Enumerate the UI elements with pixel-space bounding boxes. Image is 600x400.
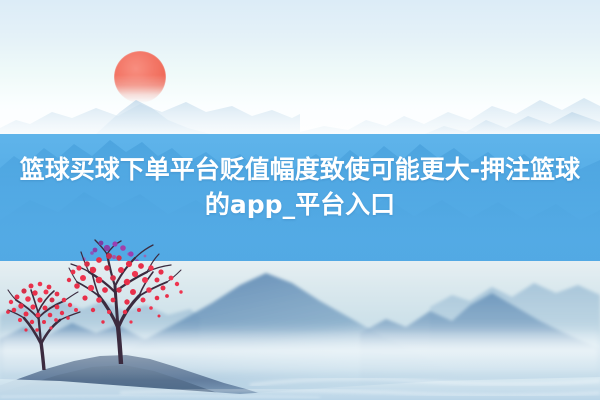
distant-skyline <box>0 0 600 140</box>
blossom-cluster-small <box>6 282 78 332</box>
blossom-tree-small <box>4 278 90 370</box>
banner-image: 篮球买球下单平台贬值幅度致使可能更大-押注篮球 的app_平台入口 <box>0 0 600 400</box>
